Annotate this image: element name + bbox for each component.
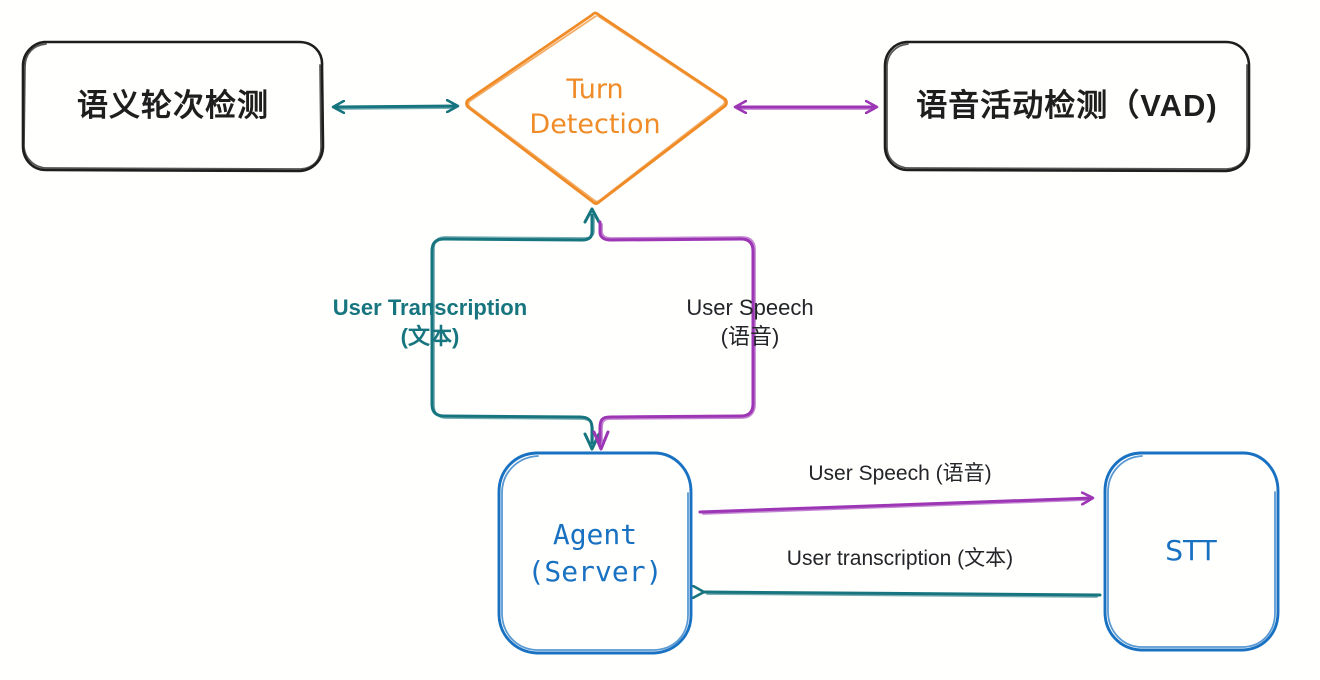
node-agent-server[interactable]: Agent (Server) — [497, 452, 693, 655]
edge-stt-to-agent — [703, 592, 1100, 597]
semantic-turn-detection-label: 语义轮次检测 — [77, 87, 269, 125]
agent-server-label: Agent (Server) — [528, 517, 663, 590]
node-semantic-turn-detection[interactable]: 语义轮次检测 — [22, 41, 324, 171]
edge-agent-to-stt — [700, 498, 1092, 514]
node-turn-detection[interactable]: Turn Detection — [464, 12, 726, 204]
node-stt[interactable]: STT — [1104, 452, 1278, 650]
stt-label: STT — [1165, 534, 1217, 568]
turn-detection-label: Turn Detection — [529, 73, 660, 142]
node-vad[interactable]: 语音活动检测（VAD) — [884, 41, 1250, 171]
edge-semantic-to-turn — [334, 106, 457, 109]
edge-turn-to-vad — [736, 107, 876, 109]
vad-label: 语音活动检测（VAD) — [916, 87, 1217, 125]
diagram-canvas: 语义轮次检测 Turn Detection 语音活动检测（VAD) Agent … — [0, 0, 1320, 680]
edge-agent-to-turn-speech — [594, 222, 755, 449]
edge-agent-to-turn-transcription — [432, 209, 599, 449]
